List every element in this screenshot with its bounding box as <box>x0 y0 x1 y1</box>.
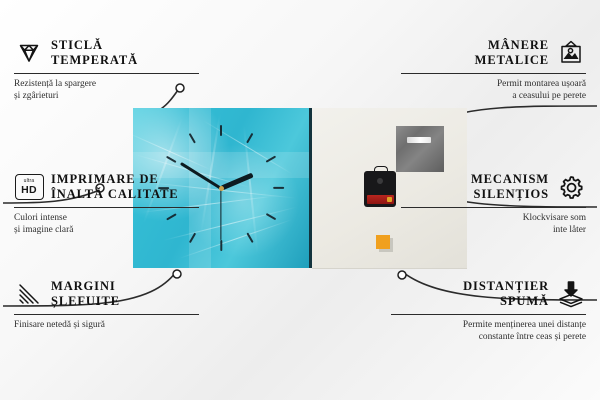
polished-edge-icon <box>14 279 44 309</box>
callout-title: STICLĂ TEMPERATĂ <box>51 38 138 69</box>
callout-subtitle: Permit montarea ușoară a ceasului pe per… <box>401 78 586 103</box>
gear-icon <box>556 172 586 202</box>
clock-hour-hand <box>220 173 253 191</box>
callout-silent-mechanism: MECANISM SILENȚIOS Klockvisare som inte … <box>401 170 586 237</box>
hanger-slot <box>407 137 431 143</box>
ultra-hd-large-label: HD <box>21 185 37 196</box>
clock-center-cap <box>219 186 224 191</box>
ultra-hd-small-label: ultra <box>24 179 35 184</box>
callout-divider <box>14 314 199 315</box>
diamond-icon <box>14 38 44 68</box>
picture-frame-hanger-icon <box>556 38 586 68</box>
foam-spacer-press-icon <box>556 279 586 309</box>
callout-title: MÂNERE METALICE <box>475 38 549 69</box>
callout-subtitle: Finisare netedă și sigură <box>14 319 199 331</box>
product-infographic: STICLĂ TEMPERATĂ Rezistență la spargere … <box>0 0 600 400</box>
callout-subtitle: Rezistență la spargere și zgârieturi <box>14 78 199 103</box>
mechanism-shaft <box>377 178 383 184</box>
battery <box>367 195 394 204</box>
battery-terminal <box>387 197 392 202</box>
callout-subtitle: Klockvisare som inte låter <box>401 212 586 237</box>
callout-title: MARGINI ȘLEFUITE <box>51 279 120 310</box>
callout-divider <box>401 73 586 74</box>
metal-hanger-plate <box>396 126 444 172</box>
callout-divider <box>14 207 199 208</box>
callout-divider <box>401 207 586 208</box>
callout-tempered-glass: STICLĂ TEMPERATĂ Rezistență la spargere … <box>14 36 199 103</box>
callout-divider <box>391 314 586 315</box>
callout-divider <box>14 73 199 74</box>
quartz-mechanism <box>364 171 396 207</box>
callout-title: IMPRIMARE DE ÎNALTĂ CALITATE <box>51 172 179 203</box>
ultra-hd-badge-icon: ultra HD <box>14 172 44 202</box>
callout-metal-handles: MÂNERE METALICE Permit montarea ușoară a… <box>401 36 586 103</box>
clock-second-hand <box>220 188 221 240</box>
callout-subtitle: Permite menținerea unei distanțe constan… <box>391 319 586 344</box>
foam-spacer <box>376 235 390 249</box>
callout-foam-spacer: DISTANȚIER SPUMĂ Permite menținerea unei… <box>391 277 586 344</box>
callout-title: DISTANȚIER SPUMĂ <box>463 279 549 310</box>
callout-subtitle: Culori intense și imagine clară <box>14 212 199 237</box>
callout-polished-edges: MARGINI ȘLEFUITE Finisare netedă și sigu… <box>14 277 199 331</box>
callout-title: MECANISM SILENȚIOS <box>471 172 549 203</box>
mechanism-hanger-loop <box>374 166 388 174</box>
callout-hd-print: ultra HD IMPRIMARE DE ÎNALTĂ CALITATE Cu… <box>14 170 199 237</box>
